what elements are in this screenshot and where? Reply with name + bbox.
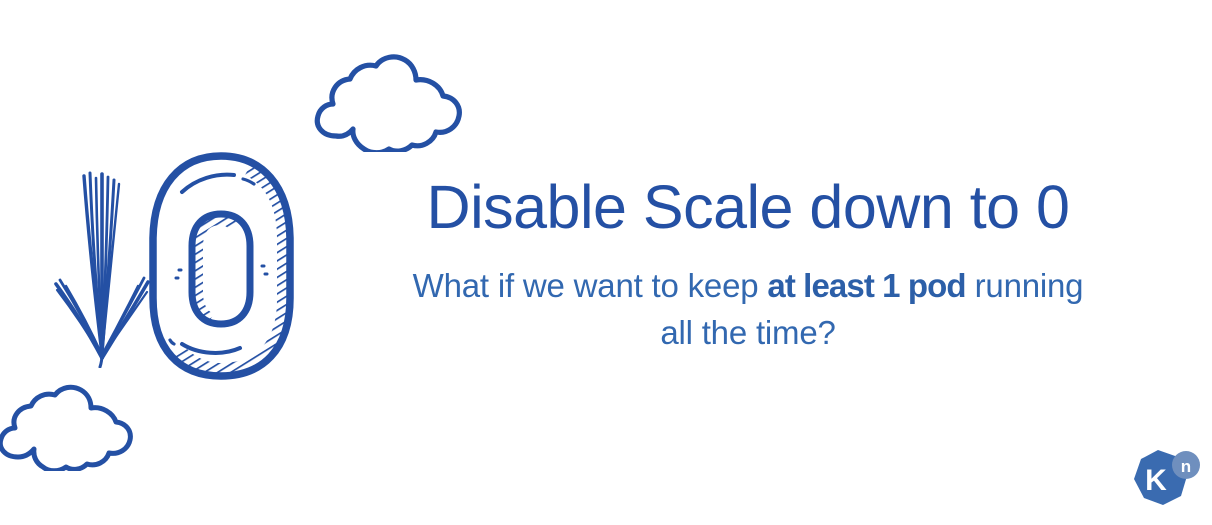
page-title: Disable Scale down to 0 <box>340 175 1156 241</box>
text-block: Disable Scale down to 0 What if we want … <box>340 175 1156 357</box>
zero-digit-sketch <box>146 152 296 380</box>
page-subtitle: What if we want to keep at least 1 pod r… <box>340 263 1156 357</box>
cloud-sketch-bottom <box>0 383 142 471</box>
subtitle-text-after: running <box>966 267 1084 304</box>
cloud-sketch-top <box>312 52 464 152</box>
knative-logo: K n <box>1128 446 1202 518</box>
subtitle-text-before: What if we want to keep <box>413 267 768 304</box>
subtitle-line-two: all the time? <box>660 314 835 351</box>
logo-letter-n: n <box>1181 457 1191 476</box>
subtitle-emphasis: at least 1 pod <box>767 267 965 304</box>
logo-letter-k: K <box>1145 464 1167 497</box>
slide-root: Disable Scale down to 0 What if we want … <box>0 0 1212 525</box>
down-arrow-sketch <box>52 168 152 368</box>
